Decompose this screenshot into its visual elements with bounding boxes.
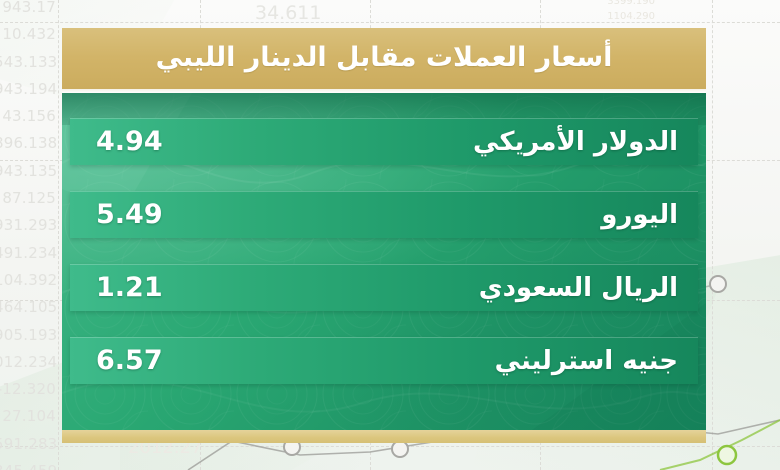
page-title: أسعار العملات مقابل الدينار الليبي <box>156 42 613 75</box>
rate-value: 4.94 <box>96 126 216 157</box>
currency-name: الريال السعودي <box>479 273 678 303</box>
currency-name: اليورو <box>601 200 678 230</box>
table-row[interactable]: 5.49 اليورو <box>70 191 698 238</box>
card-footer-strip <box>62 430 706 443</box>
table-row[interactable]: 1.21 الريال السعودي <box>70 264 698 311</box>
chart-node-circle-green <box>718 446 736 464</box>
rate-value: 6.57 <box>96 345 216 376</box>
rates-panel: 4.94 الدولار الأمريكي 5.49 اليورو 1.21 ا… <box>62 93 706 430</box>
currency-name: جنيه استرليني <box>495 346 678 376</box>
currency-rates-card: أسعار العملات مقابل الدينار الليبي <box>62 28 706 443</box>
chart-node-circle <box>710 276 726 292</box>
rate-value: 1.21 <box>96 272 216 303</box>
chart-node-circle <box>392 441 408 457</box>
table-row[interactable]: 6.57 جنيه استرليني <box>70 337 698 384</box>
table-row[interactable]: 4.94 الدولار الأمريكي <box>70 118 698 165</box>
card-title-bar: أسعار العملات مقابل الدينار الليبي <box>62 28 706 89</box>
currency-name: الدولار الأمريكي <box>473 127 678 157</box>
rate-value: 5.49 <box>96 199 216 230</box>
